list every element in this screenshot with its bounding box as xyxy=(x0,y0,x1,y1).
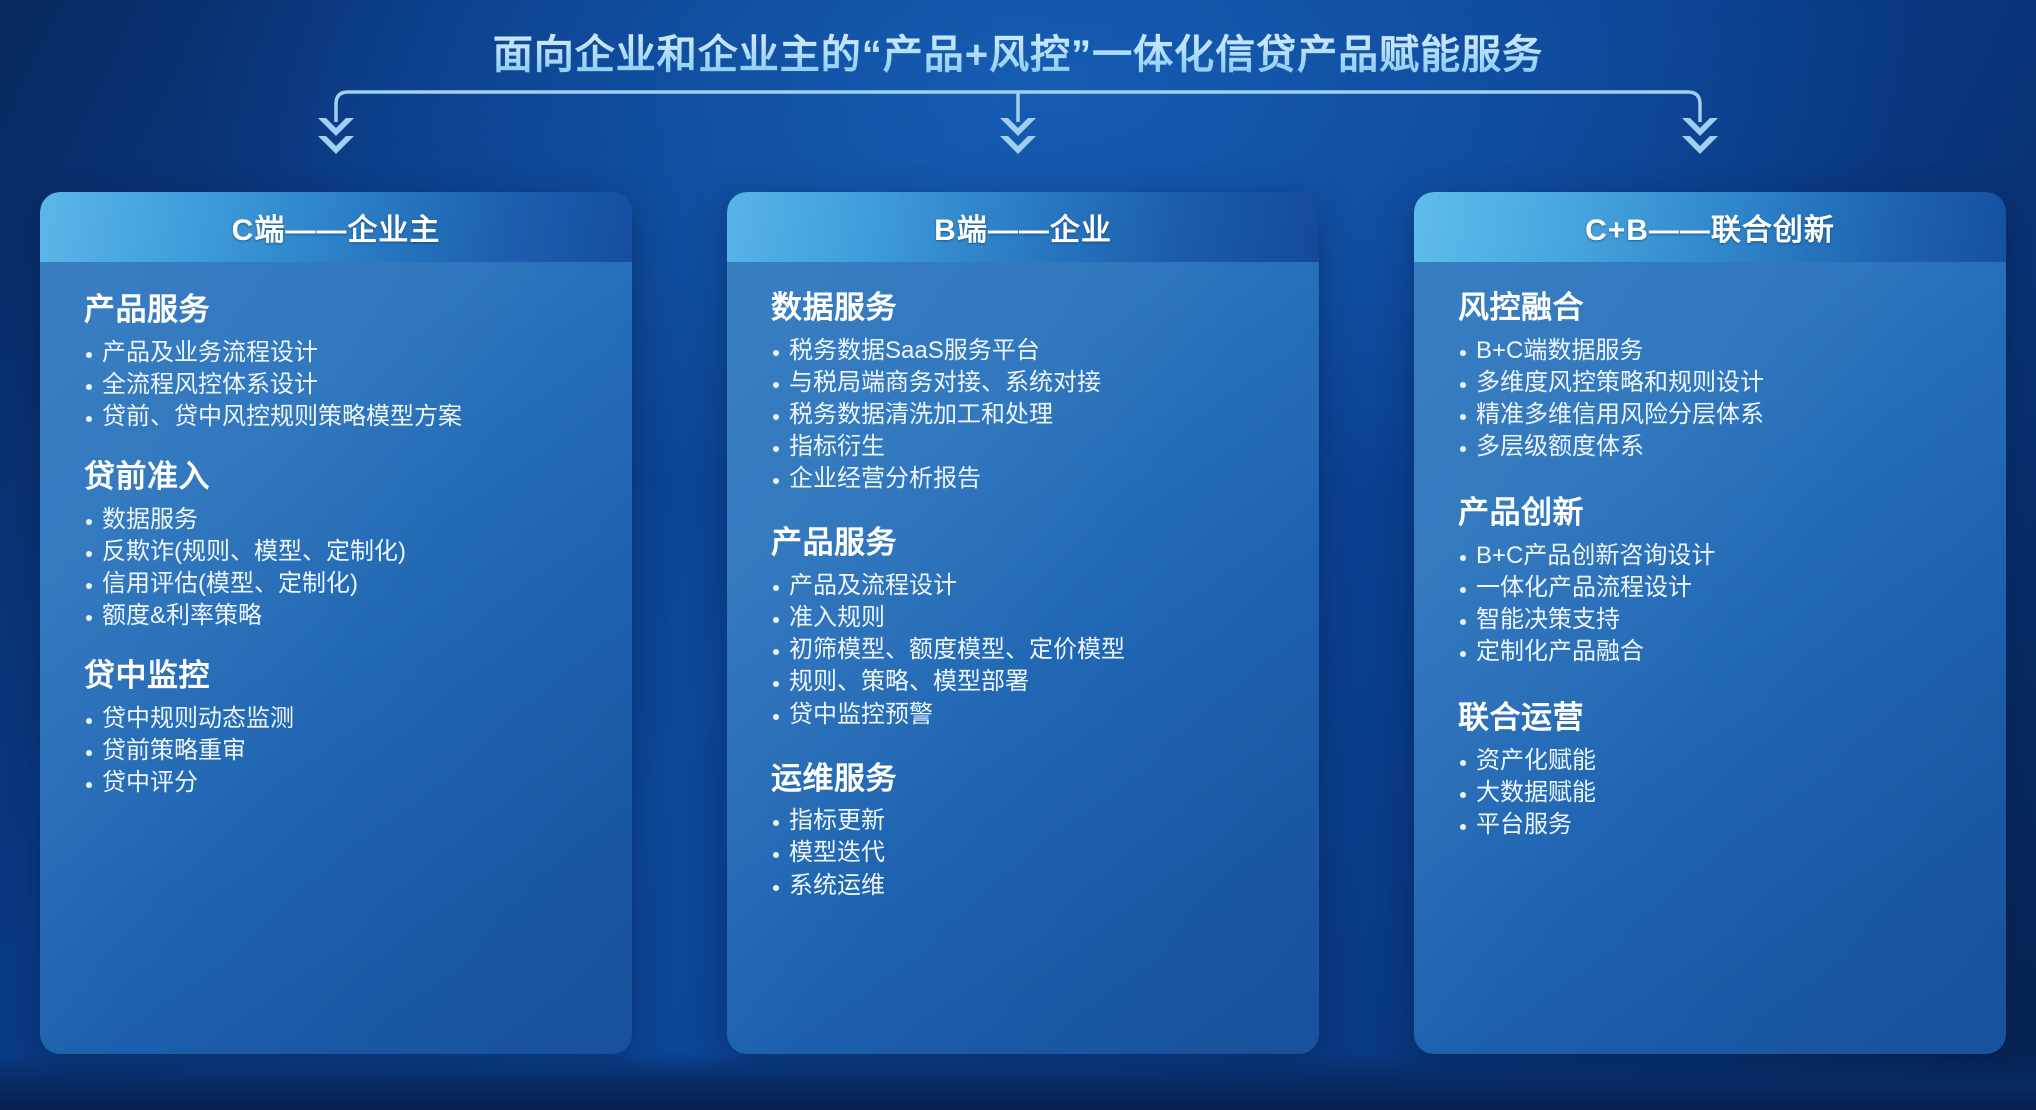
card-title: C+B——联合创新 xyxy=(1585,205,1835,249)
list-item: 指标衍生 xyxy=(771,431,1293,463)
list-item: 指标更新 xyxy=(771,805,1293,837)
list-item: 反欺诈(规则、模型、定制化) xyxy=(84,536,606,568)
list-item: 产品及业务流程设计 xyxy=(84,337,606,369)
list-item: 与税局端商务对接、系统对接 xyxy=(771,367,1293,399)
list-item: 智能决策支持 xyxy=(1458,604,1980,636)
list-item: 贷中监控预警 xyxy=(771,699,1293,731)
list-item: 多层级额度体系 xyxy=(1458,431,1980,463)
group-block: 联合运营 资产化赋能 大数据赋能 平台服务 xyxy=(1414,700,2006,841)
group-title: 产品服务 xyxy=(771,525,1293,562)
list-item: 定制化产品融合 xyxy=(1458,636,1980,668)
bullet-list: 税务数据SaaS服务平台 与税局端商务对接、系统对接 税务数据清洗加工和处理 指… xyxy=(771,335,1293,496)
group-block: 产品服务 产品及流程设计 准入规则 初筛模型、额度模型、定价模型 规则、策略、模… xyxy=(727,525,1319,730)
list-item: 一体化产品流程设计 xyxy=(1458,572,1980,604)
card-body-c-plus-b: 风控融合 B+C端数据服务 多维度风控策略和规则设计 精准多维信用风险分层体系 … xyxy=(1414,262,2006,1054)
list-item: 贷中评分 xyxy=(84,767,606,799)
list-item: 贷前、贷中风控规则策略模型方案 xyxy=(84,401,606,433)
group-block: 产品服务 产品及业务流程设计 全流程风控体系设计 贷前、贷中风控规则策略模型方案 xyxy=(40,292,632,433)
bullet-list: B+C端数据服务 多维度风控策略和规则设计 精准多维信用风险分层体系 多层级额度… xyxy=(1458,335,1980,464)
bullet-list: 贷中规则动态监测 贷前策略重审 贷中评分 xyxy=(84,703,606,799)
list-item: 税务数据SaaS服务平台 xyxy=(771,335,1293,367)
list-item: 企业经营分析报告 xyxy=(771,463,1293,495)
page-title: 面向企业和企业主的“产品+风控”一体化信贷产品赋能服务 xyxy=(0,22,2036,80)
bullet-list: 数据服务 反欺诈(规则、模型、定制化) 信用评估(模型、定制化) 额度&利率策略 xyxy=(84,504,606,633)
list-item: 额度&利率策略 xyxy=(84,600,606,632)
list-item: 系统运维 xyxy=(771,870,1293,902)
group-block: 贷中监控 贷中规则动态监测 贷前策略重审 贷中评分 xyxy=(40,658,632,799)
group-title: 贷中监控 xyxy=(84,658,606,695)
card-title: B端——企业 xyxy=(934,205,1112,249)
group-title: 贷前准入 xyxy=(84,459,606,496)
list-item: 模型迭代 xyxy=(771,837,1293,869)
group-block: 数据服务 税务数据SaaS服务平台 与税局端商务对接、系统对接 税务数据清洗加工… xyxy=(727,290,1319,495)
card-title: C端——企业主 xyxy=(232,205,441,249)
list-item: 精准多维信用风险分层体系 xyxy=(1458,399,1980,431)
list-item: 产品及流程设计 xyxy=(771,570,1293,602)
list-item: 平台服务 xyxy=(1458,809,1980,841)
card-body-b-end: 数据服务 税务数据SaaS服务平台 与税局端商务对接、系统对接 税务数据清洗加工… xyxy=(727,262,1319,1054)
bullet-list: 产品及业务流程设计 全流程风控体系设计 贷前、贷中风控规则策略模型方案 xyxy=(84,337,606,433)
group-title: 联合运营 xyxy=(1458,700,1980,737)
group-title: 风控融合 xyxy=(1458,290,1980,327)
list-item: 贷中规则动态监测 xyxy=(84,703,606,735)
connector-diagram xyxy=(0,78,2036,170)
list-item: 信用评估(模型、定制化) xyxy=(84,568,606,600)
list-item: 规则、策略、模型部署 xyxy=(771,666,1293,698)
card-body-c-end: 产品服务 产品及业务流程设计 全流程风控体系设计 贷前、贷中风控规则策略模型方案… xyxy=(40,262,632,1054)
list-item: B+C端数据服务 xyxy=(1458,335,1980,367)
group-title: 产品创新 xyxy=(1458,495,1980,532)
bottom-band xyxy=(0,1052,2036,1110)
group-block: 运维服务 指标更新 模型迭代 系统运维 xyxy=(727,761,1319,902)
group-block: 贷前准入 数据服务 反欺诈(规则、模型、定制化) 信用评估(模型、定制化) 额度… xyxy=(40,459,632,632)
card-c-plus-b[interactable]: C+B——联合创新 风控融合 B+C端数据服务 多维度风控策略和规则设计 精准多… xyxy=(1414,192,2006,1054)
list-item: 大数据赋能 xyxy=(1458,777,1980,809)
list-item: 贷前策略重审 xyxy=(84,735,606,767)
double-chevron-down-icon xyxy=(318,118,1718,154)
list-item: 初筛模型、额度模型、定价模型 xyxy=(771,634,1293,666)
group-title: 数据服务 xyxy=(771,290,1293,327)
group-block: 产品创新 B+C产品创新咨询设计 一体化产品流程设计 智能决策支持 定制化产品融… xyxy=(1414,495,2006,668)
bullet-list: 产品及流程设计 准入规则 初筛模型、额度模型、定价模型 规则、策略、模型部署 贷… xyxy=(771,570,1293,731)
card-header-c-plus-b: C+B——联合创新 xyxy=(1414,192,2006,262)
list-item: B+C产品创新咨询设计 xyxy=(1458,540,1980,572)
list-item: 全流程风控体系设计 xyxy=(84,369,606,401)
slide-canvas: 面向企业和企业主的“产品+风控”一体化信贷产品赋能服务 C端——企业主 产品服务… xyxy=(0,0,2036,1110)
list-item: 多维度风控策略和规则设计 xyxy=(1458,367,1980,399)
list-item: 准入规则 xyxy=(771,602,1293,634)
group-title: 产品服务 xyxy=(84,292,606,329)
card-b-end[interactable]: B端——企业 数据服务 税务数据SaaS服务平台 与税局端商务对接、系统对接 税… xyxy=(727,192,1319,1054)
list-item: 数据服务 xyxy=(84,504,606,536)
card-c-end[interactable]: C端——企业主 产品服务 产品及业务流程设计 全流程风控体系设计 贷前、贷中风控… xyxy=(40,192,632,1054)
list-item: 税务数据清洗加工和处理 xyxy=(771,399,1293,431)
list-item: 资产化赋能 xyxy=(1458,745,1980,777)
card-header-b-end: B端——企业 xyxy=(727,192,1319,262)
group-title: 运维服务 xyxy=(771,761,1293,798)
bullet-list: 指标更新 模型迭代 系统运维 xyxy=(771,805,1293,901)
bullet-list: 资产化赋能 大数据赋能 平台服务 xyxy=(1458,745,1980,841)
group-block: 风控融合 B+C端数据服务 多维度风控策略和规则设计 精准多维信用风险分层体系 … xyxy=(1414,290,2006,463)
bullet-list: B+C产品创新咨询设计 一体化产品流程设计 智能决策支持 定制化产品融合 xyxy=(1458,540,1980,669)
card-header-c-end: C端——企业主 xyxy=(40,192,632,262)
